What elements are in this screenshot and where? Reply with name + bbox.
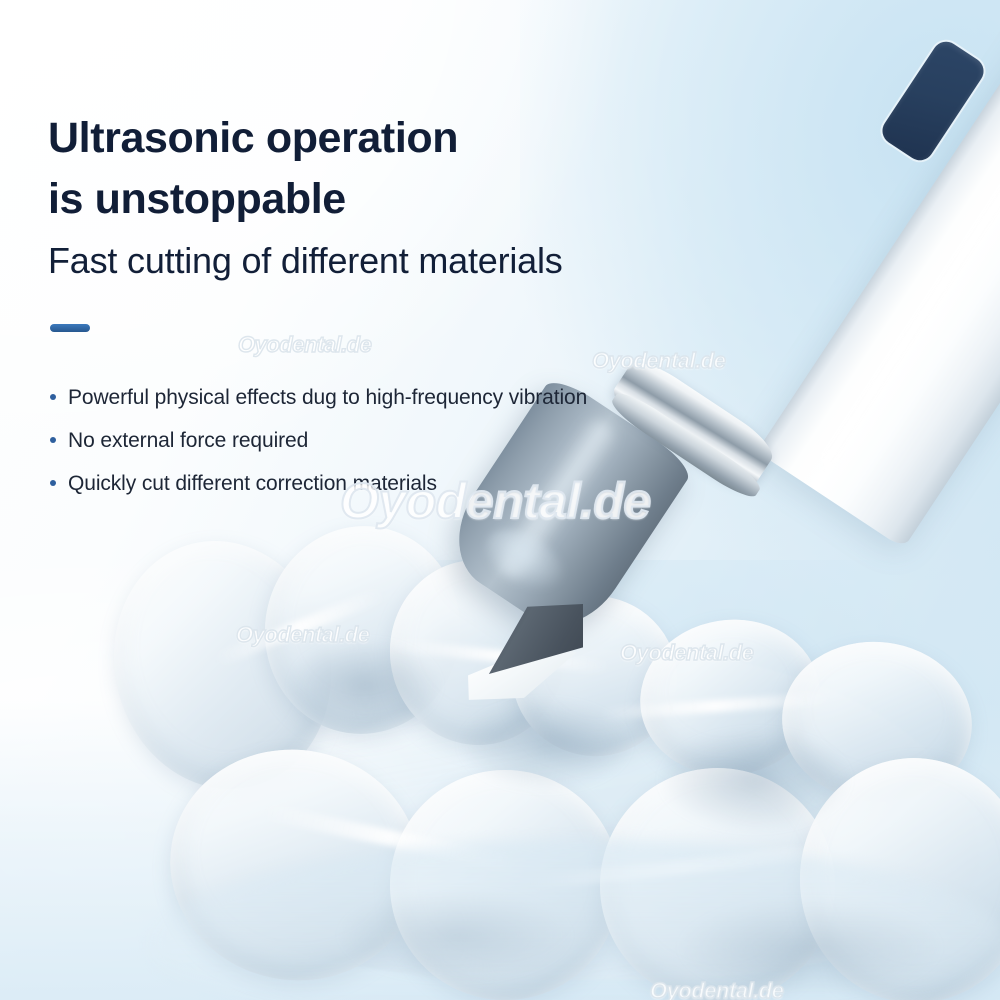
product-feature-banner: Ultrasonic operation is unstoppable Fast… [0, 0, 1000, 1000]
page-title: Ultrasonic operation is unstoppable [48, 108, 748, 230]
feature-list: Powerful physical effects dug to high-fr… [48, 382, 748, 499]
bullet-dot-icon [50, 394, 56, 400]
subheadline: Fast cutting of different materials [48, 238, 748, 285]
accent-divider [50, 324, 90, 332]
list-item-label: No external force required [68, 429, 308, 452]
headline-line-2: is unstoppable [48, 169, 748, 230]
list-item-label: Powerful physical effects dug to high-fr… [68, 386, 587, 409]
list-item: Quickly cut different correction materia… [48, 468, 748, 499]
background-floor-fade [0, 700, 1000, 1000]
headline-line-1: Ultrasonic operation [48, 114, 458, 162]
list-item: Powerful physical effects dug to high-fr… [48, 382, 748, 413]
copy-block: Ultrasonic operation is unstoppable Fast… [48, 108, 748, 511]
list-item: No external force required [48, 425, 748, 456]
bullet-dot-icon [50, 437, 56, 443]
bullet-dot-icon [50, 480, 56, 486]
list-item-label: Quickly cut different correction materia… [68, 472, 437, 495]
